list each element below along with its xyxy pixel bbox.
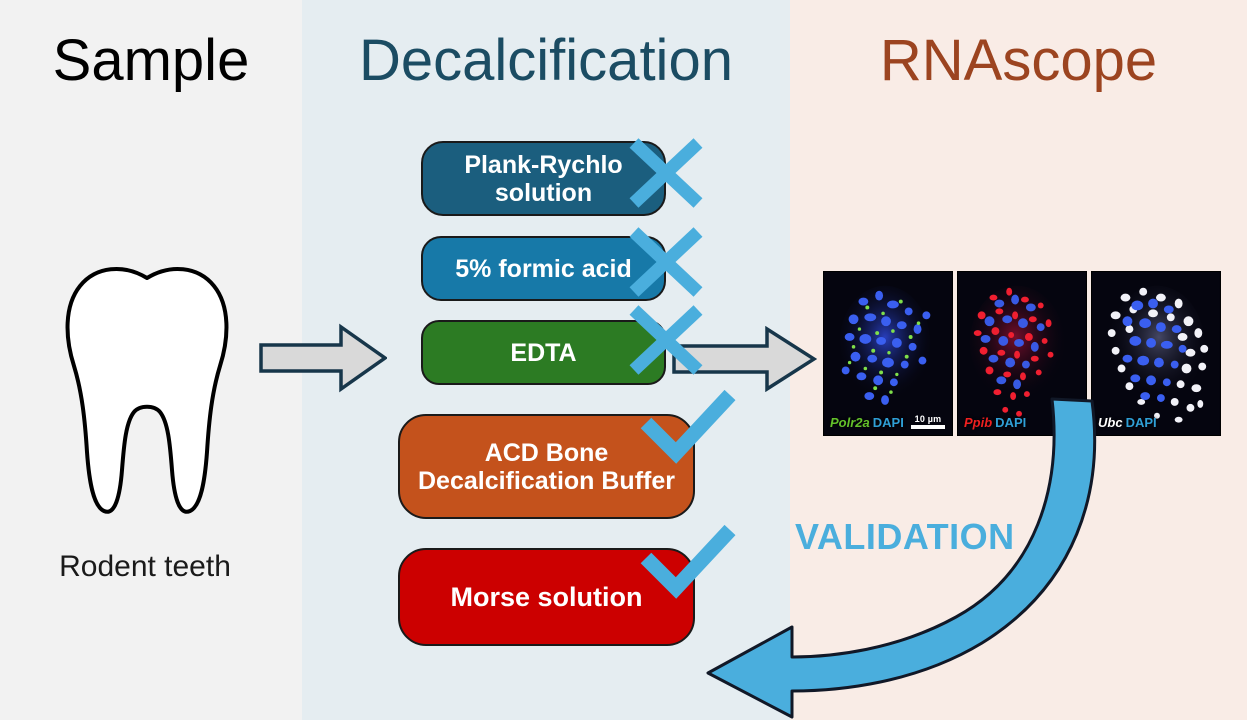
counterstain-label: DAPI bbox=[1126, 415, 1157, 430]
decalcification-column-header: Decalcification bbox=[302, 32, 790, 90]
x-mark-icon bbox=[622, 133, 710, 213]
flow-arrow-sample-to-decalcification bbox=[259, 323, 387, 393]
workflow-figure: Sample Decalcification RNAscope Rodent t… bbox=[0, 0, 1247, 720]
sample-caption: Rodent teeth bbox=[0, 550, 290, 584]
x-mark-icon bbox=[622, 300, 710, 380]
tooth-icon bbox=[52, 262, 242, 517]
validation-label: VALIDATION bbox=[795, 516, 1015, 558]
x-mark-icon bbox=[622, 222, 710, 302]
rnascope-column-header: RNAscope bbox=[790, 32, 1247, 90]
sample-column-header: Sample bbox=[0, 32, 302, 90]
